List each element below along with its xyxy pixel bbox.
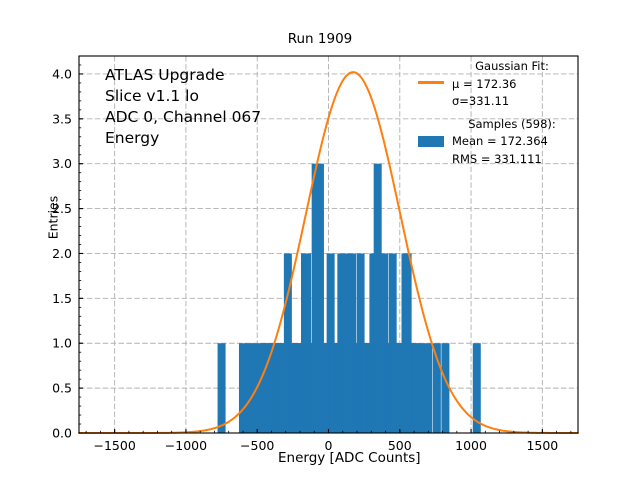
x-tick-label: −1500 <box>93 438 135 453</box>
legend-samples-swatch-patch <box>418 136 444 147</box>
x-tick-label: 1500 <box>526 438 558 453</box>
legend-fit-sigma: σ=331.11 <box>418 93 578 111</box>
legend-entry-fit[interactable]: Gaussian Fit: μ = 172.36 σ=331.11 <box>418 58 578 111</box>
legend-entry-samples[interactable]: Samples (598): Mean = 172.364 RMS = 331.… <box>418 116 578 169</box>
y-tick-label: 0.0 <box>52 426 72 441</box>
annotation-line-4: Energy <box>105 128 261 149</box>
y-tick-label: 0.5 <box>52 381 72 396</box>
histogram-bar <box>417 343 425 433</box>
annotation-line-1: ATLAS Upgrade <box>105 65 261 86</box>
chart-title: Run 1909 <box>0 31 640 47</box>
histogram-bar <box>441 343 449 433</box>
annotation-line-3: ADC 0, Channel 067 <box>105 107 261 128</box>
x-axis-label: Energy [ADC Counts] <box>278 450 421 466</box>
y-tick-label: 1.5 <box>52 291 72 306</box>
x-tick-label: −500 <box>240 438 274 453</box>
histogram-bar <box>424 343 432 433</box>
annotation-block: ATLAS Upgrade Slice v1.1 lo ADC 0, Chann… <box>105 65 261 149</box>
y-tick-label: 3.5 <box>52 111 72 126</box>
legend: Gaussian Fit: μ = 172.36 σ=331.11 Sample… <box>418 58 578 168</box>
legend-fit-header: Gaussian Fit: <box>418 58 578 76</box>
x-tick-label: −1000 <box>165 438 207 453</box>
annotation-line-2: Slice v1.1 lo <box>105 86 261 107</box>
histogram-bar <box>218 343 226 433</box>
y-tick-label: 1.0 <box>52 336 72 351</box>
figure-canvas: −1500−1000−5000500100015000.00.51.01.52.… <box>0 0 640 480</box>
y-axis-label: Entries <box>46 158 61 278</box>
legend-samples-rms: RMS = 331.111 <box>418 151 578 169</box>
y-tick-label: 4.0 <box>52 66 72 81</box>
x-tick-label: 1000 <box>455 438 487 453</box>
legend-fit-mu: μ = 172.36 <box>418 76 578 94</box>
legend-fit-swatch-line <box>418 81 444 84</box>
legend-samples-header: Samples (598): <box>418 116 578 134</box>
